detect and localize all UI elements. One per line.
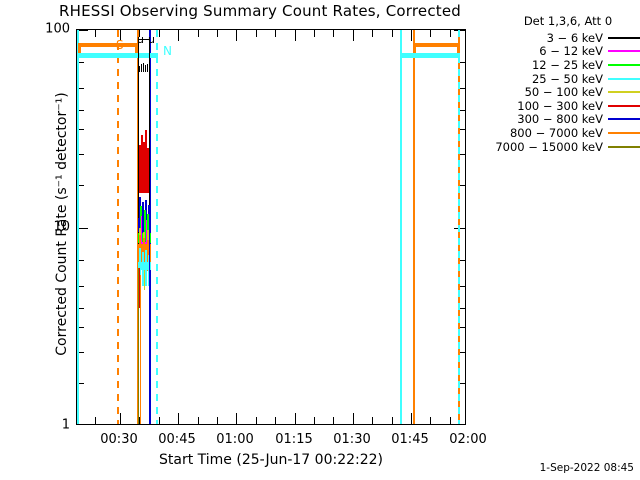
x-tick-top xyxy=(430,30,431,37)
x-tick-major xyxy=(411,413,412,424)
saa-bar-right-cap-start xyxy=(413,43,416,53)
annotation-night-n: N xyxy=(163,44,172,58)
legend: Det 1,3,6, Att 0 3 − 6 keV 6 − 12 keV 12… xyxy=(496,14,640,153)
event-line-saa-end-2-dashed xyxy=(458,30,460,424)
x-tick-label-0130: 01:30 xyxy=(333,432,370,447)
x-tick-top xyxy=(95,30,96,37)
x-tick-top xyxy=(450,30,451,37)
x-tick xyxy=(430,417,431,424)
x-tick-label-0030: 00:30 xyxy=(100,432,137,447)
x-tick-top-major xyxy=(353,30,354,41)
legend-item-50-100kev[interactable]: 50 − 100 keV xyxy=(496,85,640,99)
x-tick-top-major xyxy=(178,30,179,41)
legend-label: 100 − 300 keV xyxy=(517,99,603,113)
legend-item-6-12kev[interactable]: 6 − 12 keV xyxy=(496,45,640,59)
x-tick xyxy=(392,417,393,424)
series-800-7000kev-tail xyxy=(140,275,141,425)
x-tick-top xyxy=(314,30,315,37)
y-axis-label: Corrected Count Rate (s⁻¹ detector⁻¹) xyxy=(54,24,70,424)
legend-label: 3 − 6 keV xyxy=(547,31,603,45)
legend-label: 25 − 50 keV xyxy=(532,72,603,86)
legend-label: 7000 − 15000 keV xyxy=(495,140,603,154)
x-tick-top xyxy=(217,30,218,37)
x-tick-top-major xyxy=(411,30,412,41)
event-line-night-start-2 xyxy=(400,30,402,424)
x-tick-top xyxy=(256,30,257,37)
legend-swatch-100-300kev xyxy=(608,105,640,107)
legend-item-100-300kev[interactable]: 100 − 300 keV xyxy=(496,99,640,113)
x-tick-label-0145: 01:45 xyxy=(391,432,428,447)
legend-swatch-3-6kev xyxy=(608,37,640,39)
legend-label: 6 − 12 keV xyxy=(539,44,603,58)
plot-canvas: S N u u xyxy=(77,30,465,424)
annotation-saa-s: S xyxy=(116,38,124,52)
event-line-saa-entry xyxy=(413,30,415,424)
annotation-attenuator-u-right: u xyxy=(148,33,155,46)
legend-label: 50 − 100 keV xyxy=(525,85,603,99)
legend-swatch-6-12kev xyxy=(608,50,640,52)
night-bar-left xyxy=(77,53,158,58)
x-tick-top xyxy=(392,30,393,37)
x-tick xyxy=(450,417,451,424)
x-tick-major xyxy=(178,413,179,424)
legend-swatch-50-100kev xyxy=(608,91,640,93)
plot-area: S N u u xyxy=(76,29,466,425)
event-line-night-start xyxy=(77,30,79,424)
event-line-night-end-dashed xyxy=(156,30,158,424)
x-tick xyxy=(159,417,160,424)
render-timestamp: 1-Sep-2022 08:45 xyxy=(540,462,634,474)
series-3-6kev-tick xyxy=(147,64,148,72)
series-100-300kev-core xyxy=(141,175,148,193)
legend-swatch-12-25kev xyxy=(608,64,640,66)
legend-item-12-25kev[interactable]: 12 − 25 keV xyxy=(496,58,640,72)
x-tick-label-0115: 01:15 xyxy=(275,432,312,447)
x-tick-label-0100: 01:00 xyxy=(216,432,253,447)
series-100-300kev-core xyxy=(140,155,149,175)
x-tick-top-major xyxy=(236,30,237,41)
legend-label: 12 − 25 keV xyxy=(532,58,603,72)
x-tick-label-0045: 00:45 xyxy=(158,432,195,447)
page-title: RHESSI Observing Summary Count Rates, Co… xyxy=(0,2,520,20)
series-3-6kev-tick xyxy=(145,65,146,72)
x-tick-top xyxy=(372,30,373,37)
legend-item-7000-15000kev[interactable]: 7000 − 15000 keV xyxy=(496,140,640,154)
annotation-attenuator-u-left: u xyxy=(137,33,144,46)
night-bar-right xyxy=(400,53,460,58)
x-tick-major xyxy=(120,413,121,424)
x-tick-top xyxy=(275,30,276,37)
saa-bar-left xyxy=(78,43,137,47)
x-tick xyxy=(198,417,199,424)
x-tick xyxy=(95,417,96,424)
series-3-6kev-tick xyxy=(141,64,142,72)
x-tick-top-major xyxy=(295,30,296,41)
legend-item-300-800kev[interactable]: 300 − 800 keV xyxy=(496,113,640,127)
saa-bar-left-cap-start xyxy=(78,43,81,53)
legend-label: 300 − 800 keV xyxy=(517,112,603,126)
saa-bar-right-cap-end xyxy=(457,43,460,53)
series-3-6kev-tick xyxy=(143,63,144,72)
legend-item-25-50kev[interactable]: 25 − 50 keV xyxy=(496,72,640,86)
x-tick xyxy=(217,417,218,424)
x-tick xyxy=(256,417,257,424)
series-300-800kev-tail xyxy=(149,230,150,425)
x-tick-top xyxy=(159,30,160,37)
series-3-6kev-tick xyxy=(139,66,140,72)
x-tick-major xyxy=(236,413,237,424)
legend-swatch-800-7000kev xyxy=(608,132,640,134)
legend-swatch-25-50kev xyxy=(608,78,640,80)
x-tick-top xyxy=(198,30,199,37)
x-tick-major xyxy=(353,413,354,424)
x-tick xyxy=(333,417,334,424)
legend-label: 800 − 7000 keV xyxy=(510,126,603,140)
x-tick xyxy=(372,417,373,424)
x-tick xyxy=(314,417,315,424)
x-tick-major xyxy=(295,413,296,424)
event-line-saa-exit-dashed xyxy=(117,30,119,424)
rhessi-plot-page: RHESSI Observing Summary Count Rates, Co… xyxy=(0,0,640,480)
x-tick-label-0200: 02:00 xyxy=(449,432,486,447)
legend-title: Det 1,3,6, Att 0 xyxy=(496,14,640,28)
legend-item-800-7000kev[interactable]: 800 − 7000 keV xyxy=(496,126,640,140)
x-tick xyxy=(275,417,276,424)
legend-swatch-7000-15000kev xyxy=(608,146,640,148)
legend-swatch-300-800kev xyxy=(608,118,640,120)
legend-item-3-6kev[interactable]: 3 − 6 keV xyxy=(496,31,640,45)
saa-bar-right xyxy=(413,43,460,47)
series-50-100kev-tail xyxy=(144,270,145,290)
x-axis-label: Start Time (25-Jun-17 00:22:22) xyxy=(76,452,466,468)
x-tick-top xyxy=(333,30,334,37)
